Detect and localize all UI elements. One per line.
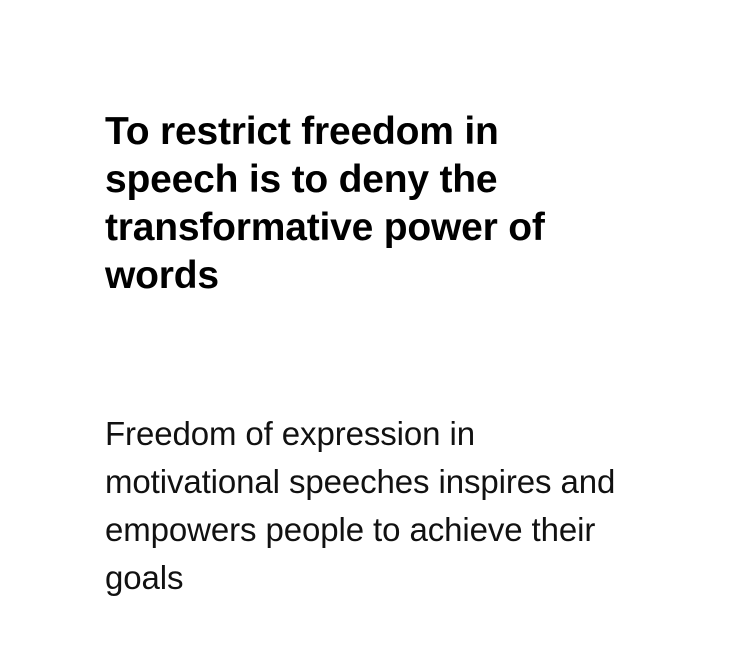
page-body-paragraph: Freedom of expression in motivational sp… xyxy=(105,410,635,602)
text-content-container: To restrict freedom in speech is to deny… xyxy=(105,108,645,602)
headline-body-spacer xyxy=(105,300,645,410)
document-page: To restrict freedom in speech is to deny… xyxy=(0,0,750,650)
page-headline: To restrict freedom in speech is to deny… xyxy=(105,108,640,300)
